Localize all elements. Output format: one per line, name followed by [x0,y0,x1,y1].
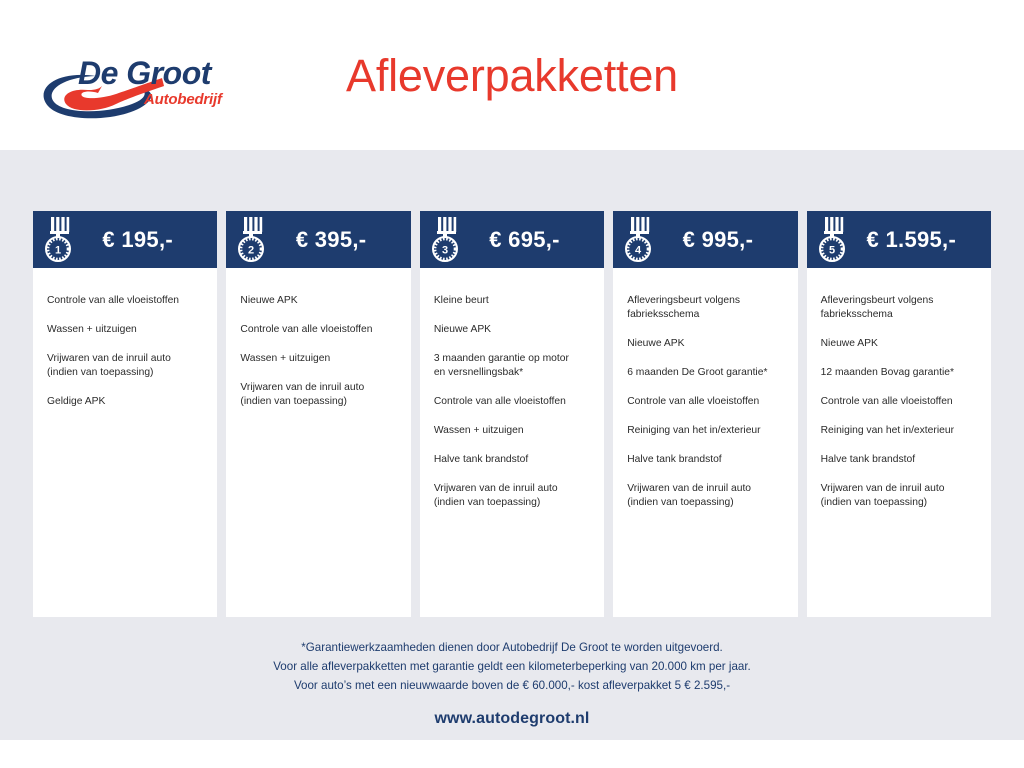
package-card-header: 5 € 1.595,- [807,211,991,268]
feature-item: 3 maanden garantie op motor en versnelli… [434,352,590,379]
feature-item: Vrijwaren van de inruil auto (indien van… [240,381,396,408]
package-rank: 3 [442,245,448,257]
feature-item: Controle van alle vloeistoffen [434,395,590,409]
feature-item: Controle van alle vloeistoffen [627,395,783,409]
feature-item: Nieuwe APK [821,337,977,351]
feature-item: Vrijwaren van de inruil auto (indien van… [47,352,203,379]
package-feature-list: Controle van alle vloeistoffen Wassen + … [33,268,217,617]
package-card-list: 1 € 195,- Controle van alle vloeistoffen… [33,211,991,617]
package-feature-list: Nieuwe APK Controle van alle vloeistoffe… [226,268,410,617]
feature-item: Controle van alle vloeistoffen [47,294,203,308]
disclaimer-line-1: *Garantiewerkzaamheden dienen door Autob… [0,638,1024,657]
feature-item: Controle van alle vloeistoffen [240,323,396,337]
feature-item: Vrijwaren van de inruil auto (indien van… [821,482,977,509]
package-card[interactable]: 5 € 1.595,- Afleveringsbeurt volgens fab… [807,211,991,617]
package-feature-list: Kleine beurt Nieuwe APK 3 maanden garant… [420,268,604,617]
package-card-header: 3 € 695,- [420,211,604,268]
package-card[interactable]: 1 € 195,- Controle van alle vloeistoffen… [33,211,217,617]
feature-item: Wassen + uitzuigen [434,424,590,438]
package-price: € 695,- [463,227,592,253]
feature-item: Wassen + uitzuigen [240,352,396,366]
feature-item: Afleveringsbeurt volgens fabrieksschema [627,294,783,321]
feature-item: Halve tank brandstof [434,453,590,467]
feature-item: Halve tank brandstof [821,453,977,467]
feature-item: Vrijwaren van de inruil auto (indien van… [434,482,590,509]
medal-icon: 3 [429,217,463,265]
package-feature-list: Afleveringsbeurt volgens fabrieksschema … [807,268,991,617]
package-feature-list: Afleveringsbeurt volgens fabrieksschema … [613,268,797,617]
package-price: € 1.595,- [850,227,979,253]
package-card-header: 2 € 395,- [226,211,410,268]
package-price: € 995,- [656,227,785,253]
feature-item: Vrijwaren van de inruil auto (indien van… [627,482,783,509]
website-url[interactable]: www.autodegroot.nl [0,710,1024,728]
package-rank: 1 [55,245,61,257]
feature-item: Geldige APK [47,395,203,409]
feature-item: Halve tank brandstof [627,453,783,467]
feature-item: 6 maanden De Groot garantie* [627,366,783,380]
feature-item: Kleine beurt [434,294,590,308]
medal-icon: 1 [42,217,76,265]
feature-item: Afleveringsbeurt volgens fabrieksschema [821,294,977,321]
feature-item: Nieuwe APK [240,294,396,308]
feature-item: Controle van alle vloeistoffen [821,395,977,409]
feature-item: Wassen + uitzuigen [47,323,203,337]
feature-item: Reiniging van het in/exterieur [821,424,977,438]
disclaimer-line-3: Voor auto’s met een nieuwwaarde boven de… [0,676,1024,695]
package-rank: 4 [635,245,642,257]
package-price: € 195,- [76,227,205,253]
page-header: De Groot Autobedrijf Afleverpakketten [0,0,1024,150]
footer-disclaimer: *Garantiewerkzaamheden dienen door Autob… [0,638,1024,695]
package-card-header: 1 € 195,- [33,211,217,268]
package-card[interactable]: 4 € 995,- Afleveringsbeurt volgens fabri… [613,211,797,617]
feature-item: 12 maanden Bovag garantie* [821,366,977,380]
package-rank: 5 [829,245,835,257]
package-rank: 2 [248,245,254,257]
package-card[interactable]: 2 € 395,- Nieuwe APK Controle van alle v… [226,211,410,617]
package-price: € 395,- [269,227,398,253]
disclaimer-line-2: Voor alle afleverpakketten met garantie … [0,657,1024,676]
feature-item: Reiniging van het in/exterieur [627,424,783,438]
package-card-header: 4 € 995,- [613,211,797,268]
feature-item: Nieuwe APK [627,337,783,351]
package-card[interactable]: 3 € 695,- Kleine beurt Nieuwe APK 3 maan… [420,211,604,617]
medal-icon: 4 [622,217,656,265]
medal-icon: 5 [816,217,850,265]
medal-icon: 2 [235,217,269,265]
feature-item: Nieuwe APK [434,323,590,337]
page-title: Afleverpakketten [0,50,1024,102]
poster-page: De Groot Autobedrijf Afleverpakketten [0,0,1024,768]
